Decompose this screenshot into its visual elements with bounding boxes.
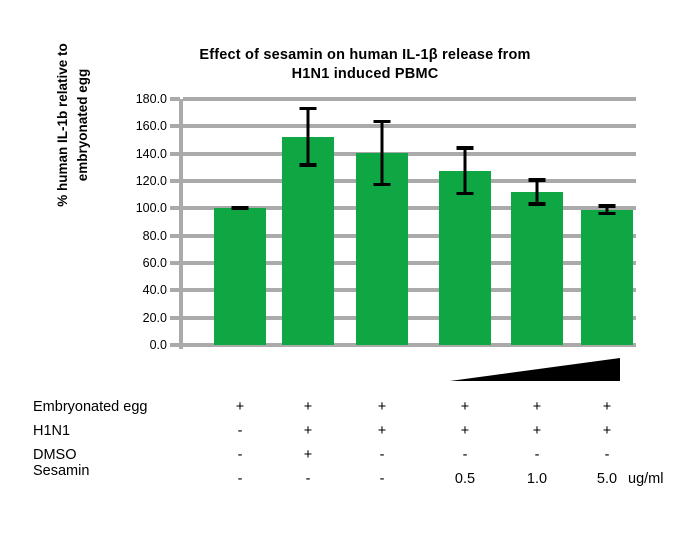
condition-cell: + [584, 419, 630, 443]
gridline [183, 152, 636, 156]
y-axis-tick [170, 97, 180, 101]
y-axis-tick [170, 124, 180, 128]
y-axis-tick [170, 343, 180, 347]
y-axis-tick-label: 100.0 [97, 201, 167, 215]
condition-cell: - [442, 443, 488, 467]
chart-title: Effect of sesamin on human IL-1β release… [150, 46, 580, 84]
chart-title-line-2: H1N1 induced PBMC [150, 65, 580, 84]
y-axis-tick [170, 288, 180, 292]
condition-cell: 0.5 [442, 467, 488, 491]
condition-row: Embryonated egg++++++ [0, 395, 700, 419]
y-axis-tick-label: 180.0 [97, 92, 167, 106]
y-axis-tick [170, 234, 180, 238]
condition-cell: + [285, 419, 331, 443]
error-bar-line [381, 120, 384, 187]
error-bar-cap [457, 192, 474, 196]
y-axis-tick [170, 316, 180, 320]
error-bar [597, 204, 617, 215]
gridline [183, 97, 636, 101]
y-axis-tick [170, 179, 180, 183]
plot-area [183, 99, 636, 345]
bar [511, 192, 563, 345]
condition-cell: + [584, 395, 630, 419]
condition-row-label: Sesamin [33, 463, 89, 479]
y-axis-line [179, 99, 183, 349]
condition-cell: 5.0 [584, 467, 630, 491]
condition-row-label: H1N1 [33, 419, 70, 443]
condition-row: H1N1-+++++ [0, 419, 700, 443]
y-axis-tick-label: 60.0 [97, 256, 167, 270]
y-axis-tick-label: 40.0 [97, 283, 167, 297]
error-bar-cap [529, 202, 546, 206]
error-bar [298, 107, 318, 167]
condition-cell: + [514, 419, 560, 443]
error-bar-cap [457, 146, 474, 150]
condition-cell: - [217, 419, 263, 443]
condition-cell: - [359, 443, 405, 467]
condition-cell: + [217, 395, 263, 419]
chart-figure: Effect of sesamin on human IL-1β release… [0, 0, 700, 539]
condition-cell: + [285, 443, 331, 467]
error-bar-cap [374, 183, 391, 187]
condition-cell: - [285, 467, 331, 491]
bar [282, 137, 334, 345]
bar [581, 210, 633, 345]
condition-cell: + [442, 419, 488, 443]
error-bar-cap [599, 212, 616, 216]
error-bar [372, 120, 392, 187]
condition-cell: - [514, 443, 560, 467]
y-axis-tick-label: 160.0 [97, 119, 167, 133]
y-axis-tick-label: 20.0 [97, 311, 167, 325]
bar [214, 208, 266, 345]
y-axis-tick-labels: 180.0160.0140.0120.0100.080.060.040.020.… [0, 99, 183, 349]
y-axis-tick-label: 120.0 [97, 174, 167, 188]
error-bar [230, 207, 250, 210]
condition-row-label: Embryonated egg [33, 395, 147, 419]
condition-cell: - [217, 443, 263, 467]
y-axis-tick [170, 261, 180, 265]
condition-cell: - [584, 443, 630, 467]
condition-cell: - [359, 467, 405, 491]
bar [439, 171, 491, 345]
condition-unit-label: ug/ml [628, 467, 663, 491]
error-bar-cap [300, 163, 317, 167]
y-axis-tick-label: 80.0 [97, 229, 167, 243]
condition-cell: + [359, 419, 405, 443]
condition-row: Sesamin---0.51.05.0ug/ml [0, 467, 700, 491]
condition-row: DMSO-+---- [0, 443, 700, 467]
condition-cell: 1.0 [514, 467, 560, 491]
y-axis-tick-label: 0.0 [97, 338, 167, 352]
error-bar-cap [599, 204, 616, 208]
y-axis-tick [170, 152, 180, 156]
condition-cell: - [217, 467, 263, 491]
condition-cell: + [514, 395, 560, 419]
error-bar-cap [374, 120, 391, 124]
chart-title-line-1: Effect of sesamin on human IL-1β release… [150, 46, 580, 65]
condition-cell: + [442, 395, 488, 419]
error-bar-cap [300, 107, 317, 111]
condition-cell: + [285, 395, 331, 419]
condition-cell: + [359, 395, 405, 419]
gridline [183, 179, 636, 183]
dose-gradient-triangle-icon [450, 358, 620, 381]
error-bar [527, 178, 547, 205]
error-bar-line [464, 146, 467, 195]
error-bar-cap [232, 206, 249, 210]
error-bar-cap [529, 178, 546, 182]
condition-table: Embryonated egg++++++H1N1-+++++DMSO-+---… [0, 395, 700, 491]
error-bar-line [307, 107, 310, 167]
gridline [183, 124, 636, 128]
y-axis-tick [170, 206, 180, 210]
y-axis-tick-label: 140.0 [97, 147, 167, 161]
error-bar [455, 146, 475, 195]
